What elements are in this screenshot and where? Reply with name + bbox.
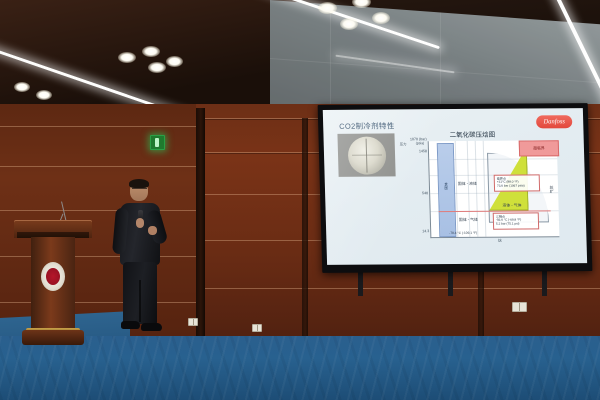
screen-surface: CO2制冷剂特性 Danfoss 二氧化碳压焓图 压力 (psia) [323,108,587,265]
ceiling-downlight [118,52,136,63]
chart-ytick: 1458 [419,149,427,153]
screen-stand [352,270,552,296]
podium [14,220,92,348]
ceiling-downlight [340,18,358,30]
chart-region-supercritical: 超临界 [519,140,559,156]
chart-region-solid: 固体 [437,143,457,237]
speaker-person [112,180,170,340]
chart-region-label: 固体 - 液体 [458,181,477,187]
chart-region-label: 固体 - 气体 [459,217,478,223]
speaker-glasses-icon [132,188,147,192]
podium-emblem [41,262,65,291]
chart-annotation-critical-point: 临界点 +31°C (88.0 °F) 73.6 bar (1067 psia) [494,174,540,191]
chart-title: 二氧化碳压焓图 [449,129,495,139]
chart-annotation-sublimation: -78.4 °C (-109.1 °F) [449,231,477,235]
wall-column [302,118,308,344]
chart-region-label: 超临界 [520,141,558,155]
wall-socket [512,302,527,312]
speaker-hair [129,179,149,188]
speaker-shoe-left [121,321,140,329]
presentation-room-photo: CO2制冷剂特性 Danfoss 二氧化碳压焓图 压力 (psia) [0,0,600,400]
projection-screen: CO2制冷剂特性 Danfoss 二氧化碳压焓图 压力 (psia) [318,103,593,273]
chart-plot-area: 1070 (bar) 1458 540 14.3 固体 液体 [428,140,560,238]
danfoss-logo-text: Danfoss [536,115,572,128]
chart-ytick: 14.3 [422,229,429,233]
chart-y-unit-left: 压力 [400,141,407,146]
ceiling-downlight [36,90,52,100]
chart-region-label: 固体 [444,183,449,190]
compressor-photo [337,133,395,176]
wall-column [196,108,205,344]
speaker-leg-split [139,280,141,322]
exit-sign-icon [150,135,165,150]
co2-pressure-enthalpy-chart: 二氧化碳压焓图 压力 (psia) 1070 (bar) 145 [397,128,568,247]
chart-ytick: 1070 (bar) [410,137,427,141]
chart-annotation-triple-point: 三相点 -56.6 °C (-69.8 °F) 5.2 bar (75.1 ps… [493,212,539,229]
wall-socket [188,318,198,326]
speaker-hand-right [148,226,157,235]
compressor-photo-disc [347,136,386,174]
danfoss-logo: Danfoss [536,115,572,128]
speaker-hand-left [136,218,144,228]
ceiling-downlight [372,12,390,24]
ceiling-downlight [148,62,166,73]
ceiling [0,0,600,118]
slide-title: CO2制冷剂特性 [339,120,395,131]
chart-xaxis-label: 焓 [498,239,502,244]
ceiling-downlight [318,2,337,14]
ceiling-downlight [14,82,30,92]
chart-region-label: 气体 [549,185,555,193]
chart-y-unit-right: (psia) [416,141,425,145]
podium-base [22,330,84,345]
speaker-shoe-right [141,323,162,331]
ceiling-downlight [142,46,160,57]
wall-socket [252,324,262,332]
ceiling-downlight [166,56,183,67]
chart-region-label: 液体 - 气体 [502,203,521,209]
chart-ytick: 540 [422,191,428,195]
podium-top [14,220,92,238]
